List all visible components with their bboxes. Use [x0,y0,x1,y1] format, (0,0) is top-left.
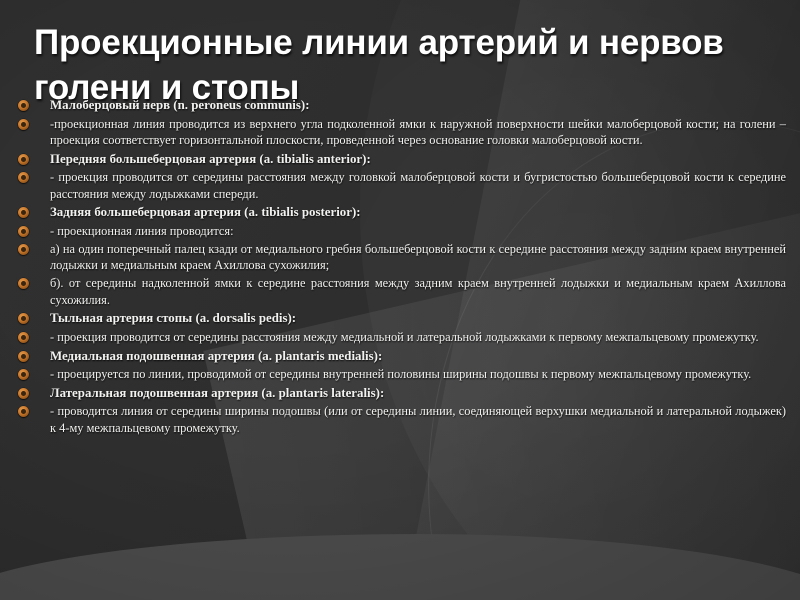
bullet-text: - проводится линия от середины ширины по… [50,403,786,436]
ring-bullet-icon [18,244,29,255]
bullet-text: Задняя большеберцовая артерия (a. tibial… [50,204,786,221]
bullet-text: -проекционная линия проводится из верхне… [50,116,786,149]
bullet-text: - проецируется по линии, проводимой от с… [50,366,786,383]
slide-body: Малоберцовый нерв (n. peroneus communis)… [14,95,786,438]
bullet-item: - проекция проводится от середины рассто… [14,329,786,346]
ring-bullet-icon [18,351,29,362]
bullet-text: Медиальная подошвенная артерия (a. plant… [50,348,786,365]
ring-bullet-icon [18,207,29,218]
ring-bullet-icon [18,172,29,183]
bullet-list: Малоберцовый нерв (n. peroneus communis)… [14,97,786,436]
bullet-heading: Тыльная артерия стопы (a. dorsalis pedis… [14,310,786,327]
bullet-item: - проводится линия от середины ширины по… [14,403,786,436]
bullet-item: - проецируется по линии, проводимой от с… [14,366,786,383]
bullet-heading: Медиальная подошвенная артерия (a. plant… [14,348,786,365]
bullet-item: - проекционная линия проводится: [14,223,786,240]
ring-bullet-icon [18,332,29,343]
ring-bullet-icon [18,313,29,324]
bullet-text: - проекция проводится от середины рассто… [50,169,786,202]
ring-bullet-icon [18,278,29,289]
bullet-heading: Малоберцовый нерв (n. peroneus communis)… [14,97,786,114]
bullet-text: Малоберцовый нерв (n. peroneus communis)… [50,97,786,114]
ring-bullet-icon [18,388,29,399]
bullet-text: Тыльная артерия стопы (a. dorsalis pedis… [50,310,786,327]
bullet-text: б). от середины надколенной ямки к серед… [50,275,786,308]
bullet-text: а) на один поперечный палец кзади от мед… [50,241,786,274]
ring-bullet-icon [18,406,29,417]
ring-bullet-icon [18,369,29,380]
ring-bullet-icon [18,154,29,165]
bullet-text: - проекционная линия проводится: [50,223,786,240]
bullet-text: Латеральная подошвенная артерия (a. plan… [50,385,786,402]
bullet-heading: Передняя большеберцовая артерия (a. tibi… [14,151,786,168]
presentation-slide: Проекционные линии артерий и нервов голе… [0,0,800,600]
bullet-item: - проекция проводится от середины рассто… [14,169,786,202]
bullet-item: -проекционная линия проводится из верхне… [14,116,786,149]
bullet-heading: Латеральная подошвенная артерия (a. plan… [14,385,786,402]
ring-bullet-icon [18,226,29,237]
bullet-text: - проекция проводится от середины рассто… [50,329,786,346]
bullet-item: б). от середины надколенной ямки к серед… [14,275,786,308]
bullet-item: а) на один поперечный палец кзади от мед… [14,241,786,274]
ring-bullet-icon [18,119,29,130]
ring-bullet-icon [18,100,29,111]
bullet-text: Передняя большеберцовая артерия (a. tibi… [50,151,786,168]
bullet-heading: Задняя большеберцовая артерия (a. tibial… [14,204,786,221]
